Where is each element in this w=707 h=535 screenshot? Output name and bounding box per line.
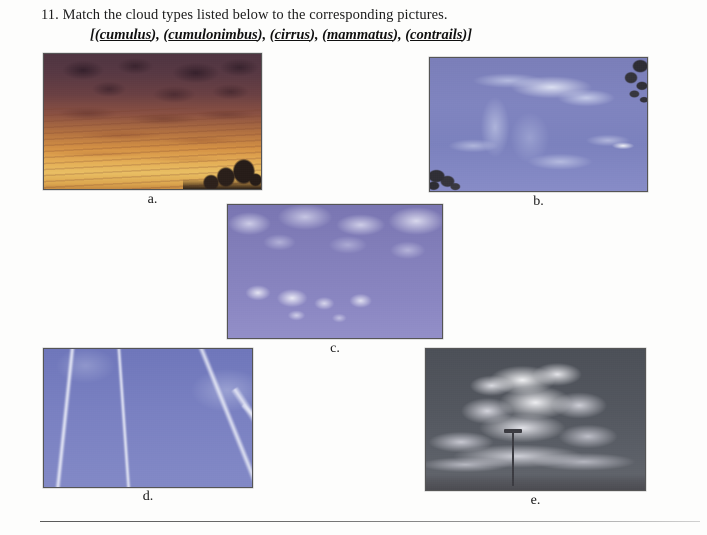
- tree-silhouette-a: [183, 143, 261, 189]
- cloud-type-mammatus: mammatus: [327, 27, 393, 43]
- figure-d: d.: [43, 348, 253, 488]
- figure-caption-b: b.: [429, 194, 648, 210]
- contrail-streak-1: [54, 348, 76, 488]
- list-separator-1: ,: [263, 27, 270, 43]
- cloud-photo-d: [43, 348, 253, 488]
- figure-b: b.: [429, 57, 648, 192]
- cloud-type-cumulonimbus: cumulonimbus: [168, 27, 257, 43]
- figure-a: a.: [43, 53, 262, 190]
- light-pole-head: [504, 429, 522, 433]
- question-text: 11. Match the cloud types listed below t…: [41, 7, 448, 24]
- figure-caption-c: c.: [227, 341, 443, 357]
- horizon-ground-e: [426, 474, 645, 490]
- contrail-streaks: [44, 349, 252, 487]
- tree-silhouette-b-top-right: [605, 58, 647, 116]
- figure-e: e.: [425, 348, 646, 491]
- cloud-type-contrails: contrails: [410, 27, 462, 43]
- cloud-photo-b: [429, 57, 648, 192]
- page-bottom-rule: [40, 521, 700, 522]
- list-close-bracket: ]: [467, 27, 472, 43]
- cloud-photo-a: [43, 53, 262, 190]
- light-pole-mast: [512, 430, 514, 486]
- cloud-type-cumulus: cumulus: [100, 27, 152, 43]
- cloud-photo-c: [227, 204, 443, 339]
- figure-c: c.: [227, 204, 443, 339]
- figure-caption-d: d.: [43, 489, 253, 505]
- cloud-photo-e: [425, 348, 646, 491]
- figure-caption-e: e.: [425, 493, 646, 509]
- tree-silhouette-b-bottom-left: [430, 147, 476, 191]
- tree-line-c: [228, 316, 442, 338]
- contrail-streak-3: [194, 348, 253, 488]
- contrail-streak-2: [116, 348, 132, 488]
- cloud-type-cirrus: cirrus: [275, 27, 310, 43]
- cloud-type-list: [(cumulus), (cumulonimbus), (cirrus), (m…: [90, 27, 472, 44]
- cumulonimbus-tower: [426, 349, 645, 490]
